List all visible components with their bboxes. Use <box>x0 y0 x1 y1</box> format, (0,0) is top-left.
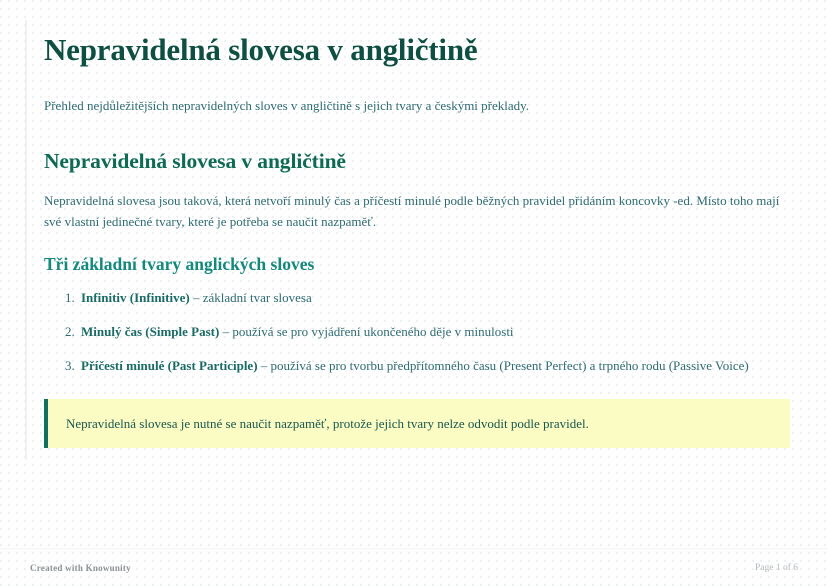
document-subtitle: Přehled nejdůležitějších nepravidelných … <box>44 69 798 116</box>
document-content: Nepravidelná slovesa v angličtině Přehle… <box>44 0 798 448</box>
list-item-description: – základní tvar slovesa <box>190 290 312 305</box>
callout-box: Nepravidelná slovesa je nutné se naučit … <box>44 399 790 449</box>
page-footer: Created with Knowunity Page 1 of 6 <box>0 549 828 586</box>
document-page: Nepravidelná slovesa v angličtině Přehle… <box>0 0 828 586</box>
list-item: Příčestí minulé (Past Participle) – použ… <box>78 357 798 376</box>
page-title: Nepravidelná slovesa v angličtině <box>44 0 798 69</box>
list-item-description: – používá se pro vyjádření ukončeného dě… <box>219 324 513 339</box>
footer-page-number: Page 1 of 6 <box>755 563 798 573</box>
left-margin-rule <box>25 20 27 460</box>
subsection-heading: Tři základní tvary anglických sloves <box>44 232 798 275</box>
list-item-description: – používá se pro tvorbu předpřítomného č… <box>258 358 749 373</box>
list-item: Infinitiv (Infinitive) – základní tvar s… <box>78 289 798 308</box>
verb-forms-list: Infinitiv (Infinitive) – základní tvar s… <box>44 275 798 376</box>
list-item: Minulý čas (Simple Past) – používá se pr… <box>78 323 798 342</box>
section-heading: Nepravidelná slovesa v angličtině <box>44 115 798 175</box>
section-paragraph: Nepravidelná slovesa jsou taková, která … <box>44 175 788 232</box>
list-item-term: Minulý čas (Simple Past) <box>81 324 219 339</box>
list-item-term: Infinitiv (Infinitive) <box>81 290 190 305</box>
callout-text: Nepravidelná slovesa je nutné se naučit … <box>66 414 772 434</box>
footer-brand-label: Created with Knowunity <box>30 563 131 573</box>
list-item-term: Příčestí minulé (Past Participle) <box>81 358 258 373</box>
